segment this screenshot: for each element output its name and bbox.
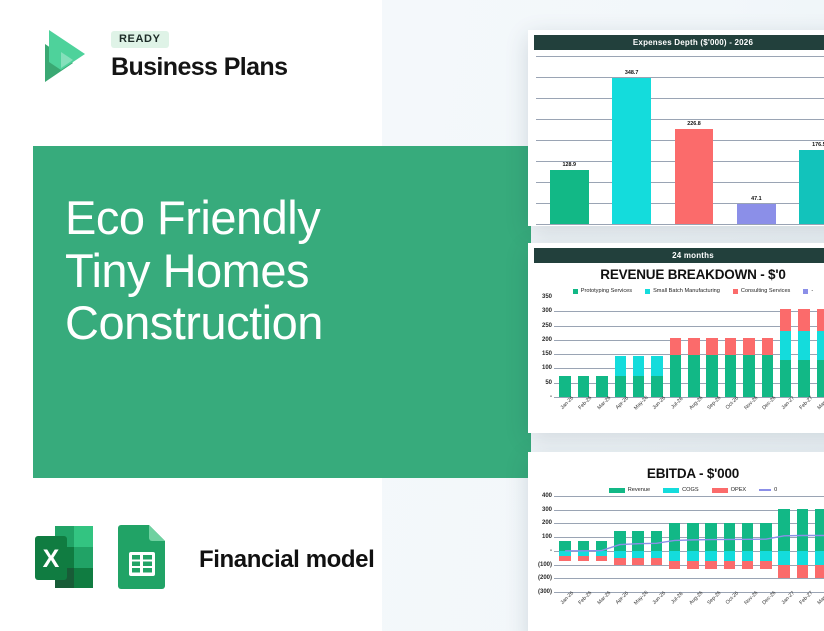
bar-segment[interactable] [706, 338, 717, 355]
svg-text:X: X [43, 545, 60, 573]
bar-column[interactable] [666, 297, 684, 397]
y-axis: 400300200100-(100)(200)(300) [530, 496, 554, 612]
legend-label: COGS [682, 487, 698, 493]
poster-canvas: READY Business Plans Eco Friendly Tiny H… [0, 0, 824, 631]
legend-item: OPEX [712, 487, 747, 493]
bar[interactable] [799, 150, 824, 224]
bar-column[interactable] [648, 297, 666, 397]
bar-segment[interactable] [725, 338, 736, 355]
bar[interactable] [550, 170, 589, 224]
bar-segment[interactable] [688, 338, 699, 355]
ebitda-plot-area: 400300200100-(100)(200)(300)Jan-26Feb-26… [530, 496, 824, 612]
legend-item: Prototyping Services [573, 288, 632, 294]
legend-label: Small Batch Manufacturing [653, 288, 720, 294]
legend-item: Revenue [609, 487, 650, 493]
bar-column[interactable] [758, 297, 776, 397]
y-tick-label: - [550, 394, 552, 400]
y-tick-label: 300 [542, 308, 552, 314]
x-axis-labels: Jan-26Feb-26Mar-26Apr-26May-26Jun-26Jul-… [556, 596, 824, 602]
bar-column[interactable] [556, 297, 574, 397]
bar-segment[interactable] [817, 309, 824, 330]
bar-column[interactable] [777, 297, 795, 397]
bar-value-label: 348.7 [625, 70, 639, 76]
legend-label: - [811, 288, 813, 294]
bar-column[interactable] [721, 297, 739, 397]
y-tick-label: 300 [542, 507, 552, 513]
y-tick-label: (300) [538, 589, 552, 595]
bar-group: 128.9348.7226.847.1176.5 [538, 56, 824, 224]
legend-swatch [712, 488, 728, 493]
legend-item: Consulting Services [733, 288, 790, 294]
bar-segment[interactable] [651, 356, 662, 376]
bar-segment[interactable] [615, 356, 626, 376]
revenue-months-band: 24 months [534, 248, 824, 263]
bar[interactable] [675, 129, 714, 224]
bar-value-label: 226.8 [687, 121, 701, 127]
brand-logo[interactable]: READY Business Plans [33, 24, 333, 96]
y-tick-label: (200) [538, 575, 552, 581]
expenses-chart-title: Expenses Depth ($'000) - 2026 [534, 35, 824, 50]
legend-swatch [609, 488, 625, 493]
legend-swatch [803, 289, 808, 294]
ready-badge: READY [111, 31, 169, 48]
legend-label: 0 [774, 487, 777, 493]
legend-label: Consulting Services [741, 288, 790, 294]
bar-column[interactable] [685, 297, 703, 397]
y-tick-label: 100 [542, 365, 552, 371]
legend-label: Revenue [628, 487, 650, 493]
bar-segment[interactable] [780, 360, 791, 397]
y-tick-label: 250 [542, 323, 552, 329]
chart-card-ebitda[interactable]: EBITDA - $'000 RevenueCOGSOPEX0 40030020… [528, 452, 824, 631]
bar-segment[interactable] [633, 356, 644, 376]
revenue-chart-title: REVENUE BREAKDOWN - $'0 [528, 267, 824, 282]
legend-swatch [733, 289, 738, 294]
legend-swatch [663, 488, 679, 493]
legend-label: Prototyping Services [581, 288, 632, 294]
bar-value-label: 176.5 [812, 142, 824, 148]
bar-column[interactable] [630, 297, 648, 397]
page-title-line-3: Construction [65, 297, 495, 350]
y-tick-label: 200 [542, 337, 552, 343]
y-tick-label: (100) [538, 562, 552, 568]
chart-card-revenue[interactable]: 24 months REVENUE BREAKDOWN - $'0 Protot… [528, 243, 824, 433]
legend-item: Small Batch Manufacturing [645, 288, 720, 294]
y-tick-label: 50 [545, 380, 552, 386]
bar-column[interactable] [593, 297, 611, 397]
bar-column[interactable] [611, 297, 629, 397]
bar-segment[interactable] [615, 376, 626, 397]
legend-swatch [573, 289, 578, 294]
legend-item-line: 0 [759, 487, 777, 493]
bar-value-label: 47.1 [751, 196, 762, 202]
bar-segment[interactable] [762, 338, 773, 355]
bar-column[interactable] [703, 297, 721, 397]
bar-segment[interactable] [817, 360, 824, 397]
page-title-line-2: Tiny Homes [65, 245, 495, 298]
bar-group [556, 297, 824, 397]
page-title-line-1: Eco Friendly [65, 192, 495, 245]
gridline [554, 592, 824, 593]
y-tick-label: 150 [542, 351, 552, 357]
y-tick-label: 200 [542, 520, 552, 526]
y-tick-label: 400 [542, 493, 552, 499]
bar-segment[interactable] [651, 376, 662, 397]
google-sheets-icon [113, 522, 175, 598]
page-title: Eco Friendly Tiny Homes Construction [65, 192, 495, 350]
bar-column[interactable] [813, 297, 824, 397]
bar-column[interactable]: 47.1 [725, 56, 787, 224]
legend-label: OPEX [731, 487, 747, 493]
bar-column[interactable] [740, 297, 758, 397]
bar-column[interactable]: 226.8 [663, 56, 725, 224]
revenue-legend: Prototyping ServicesSmall Batch Manufact… [528, 288, 824, 294]
bar-segment[interactable] [633, 376, 644, 397]
legend-swatch [645, 289, 650, 294]
bar-column[interactable] [795, 297, 813, 397]
bar-segment[interactable] [559, 376, 570, 397]
revenue-plot-area: 35030025020015010050-Jan-26Feb-26Mar-26A… [530, 297, 824, 415]
chart-card-expenses[interactable]: Expenses Depth ($'000) - 2026 128.9348.7… [528, 30, 824, 226]
play-triangle-logo-icon [33, 24, 95, 86]
expenses-plot-area: 128.9348.7226.847.1176.5 [534, 56, 824, 224]
bar[interactable] [737, 204, 776, 224]
ebitda-chart-title: EBITDA - $'000 [528, 466, 824, 481]
y-axis: 35030025020015010050- [530, 297, 554, 415]
bar-column[interactable] [574, 297, 592, 397]
microsoft-excel-icon: X [33, 522, 95, 598]
gridline [536, 224, 824, 225]
bar-segment[interactable] [596, 376, 607, 397]
bar-segment[interactable] [670, 355, 681, 397]
bar-segment[interactable] [688, 355, 699, 397]
financial-model-label: Financial model [199, 546, 374, 574]
bar-segment[interactable] [743, 338, 754, 355]
bar-segment[interactable] [578, 376, 589, 397]
legend-item: - [803, 288, 813, 294]
bar-group [556, 496, 824, 592]
bar-segment[interactable] [780, 331, 791, 361]
y-tick-label: 100 [542, 534, 552, 540]
brand-name: Business Plans [111, 55, 287, 80]
bar-value-label: 128.9 [562, 162, 576, 168]
bar-segment[interactable] [817, 331, 824, 361]
bar-segment[interactable] [798, 309, 809, 330]
bar-segment[interactable] [670, 338, 681, 355]
bar-segment[interactable] [798, 331, 809, 361]
bar-segment[interactable] [762, 355, 773, 397]
bar-segment[interactable] [798, 360, 809, 397]
legend-item: COGS [663, 487, 698, 493]
y-tick-label: - [550, 548, 552, 554]
bar-column[interactable]: 128.9 [538, 56, 600, 224]
bar-segment[interactable] [780, 309, 791, 330]
footer-formats: X Financial model [33, 522, 374, 598]
bar-column[interactable]: 176.5 [788, 56, 824, 224]
hero-banner: Eco Friendly Tiny Homes Construction [33, 146, 531, 478]
ebitda-line-series [556, 496, 824, 592]
bar-segment[interactable] [706, 355, 717, 397]
bar-segment[interactable] [743, 355, 754, 397]
gridline [554, 397, 824, 398]
y-tick-label: 350 [542, 294, 552, 300]
bar-column[interactable]: 348.7 [600, 56, 662, 224]
ebitda-legend: RevenueCOGSOPEX0 [528, 487, 824, 493]
bar[interactable] [612, 78, 651, 224]
bar-segment[interactable] [725, 355, 736, 397]
x-axis-labels: Jan-26Feb-26Mar-26Apr-26May-26Jun-26Jul-… [556, 401, 824, 407]
legend-line-swatch [759, 489, 771, 491]
